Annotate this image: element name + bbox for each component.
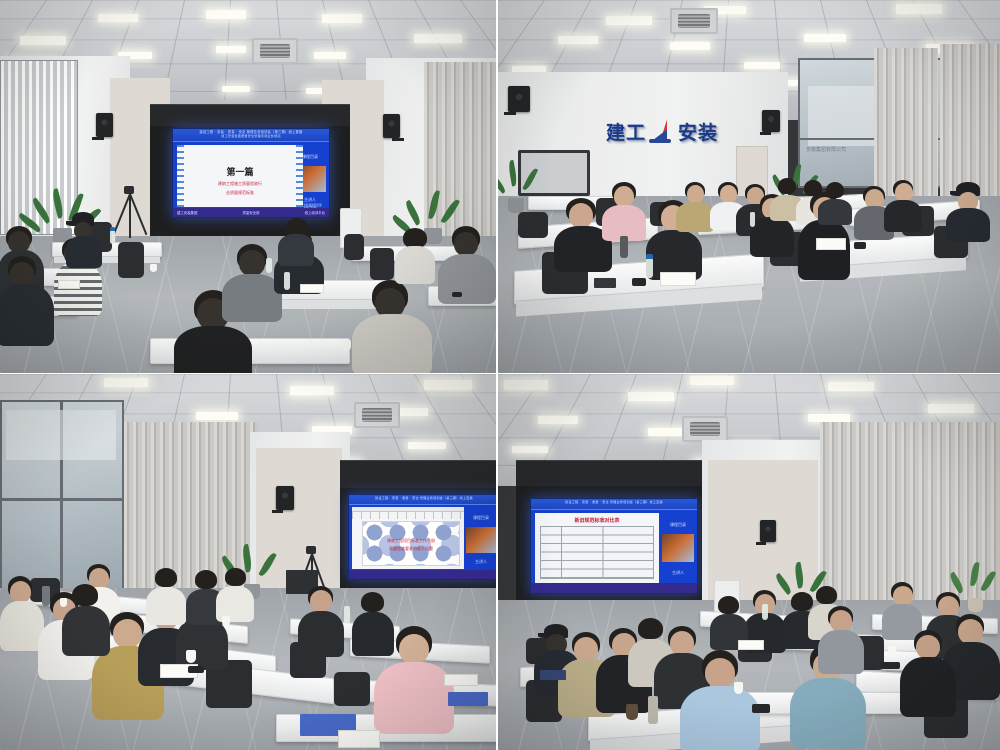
ceiling-light — [104, 378, 148, 387]
speaker-bracket — [756, 542, 766, 545]
ceiling-light — [408, 442, 446, 449]
water-bottle — [646, 258, 653, 278]
sail-logo-icon — [649, 120, 675, 144]
tripod-camera — [120, 186, 138, 242]
document-folder — [594, 278, 616, 288]
slide-sidebar-bottom-label: 主讲人 — [463, 559, 496, 565]
water-bottle — [750, 212, 755, 227]
logo-text-left: 建工 — [606, 118, 646, 145]
led-screen-slide[interactable]: 建设工程 · 安装 · 质量 · 安全 管理业务培训会（第三期）线上直播 建工安… — [172, 128, 330, 218]
wall-speaker-icon — [508, 86, 530, 112]
paper-cup — [186, 650, 196, 663]
ceiling-light — [206, 10, 246, 19]
chair — [370, 248, 394, 280]
ceiling-light — [196, 412, 238, 420]
document-headline-2: 质量验收要求的若干问题 — [363, 546, 459, 552]
ceiling-light — [290, 386, 334, 395]
water-bottle — [762, 604, 768, 620]
ac-vent-icon — [252, 38, 298, 64]
smartphone — [188, 666, 204, 673]
ceiling-light — [504, 380, 548, 390]
ceiling-light — [928, 404, 974, 413]
document-page: 建筑工程项目标准工作手册 质量验收要求的若干问题 — [362, 521, 460, 566]
attendee — [224, 244, 280, 318]
paper-cup — [888, 646, 896, 657]
slide-header-text: 建设工程 · 安装 · 质量 · 安全 管理业务培训会（第三期）线上直播 — [531, 500, 697, 504]
slide-subtitle-2: 业质量规范标准 — [177, 190, 303, 196]
document-folder — [540, 670, 566, 680]
slide-body: 第一篇 建筑工程施工质量验收行 业质量规范标准 — [177, 145, 303, 207]
led-screen-document[interactable]: 建设工程 · 安装 · 质量 · 安全 管理业务培训会（第三期）线上直播 课程目… — [348, 494, 496, 580]
ceiling-light — [414, 34, 462, 43]
ceiling-light — [804, 34, 846, 42]
notebook — [58, 280, 80, 289]
ac-vent-icon — [682, 416, 728, 442]
ceiling-light — [828, 382, 874, 391]
attendee — [884, 180, 922, 230]
slide-header-banner: 建设工程 · 安装 · 质量 · 安全 管理业务培训会（第三期）线上直播 — [531, 499, 697, 510]
thermos — [42, 586, 50, 606]
ceiling-light — [648, 428, 686, 436]
attendee — [818, 182, 852, 224]
slide-header-banner: 建设工程 · 安装 · 质量 · 安全 管理业务培训会（第三期）线上直播 — [349, 495, 496, 505]
printed-sheet — [338, 730, 380, 748]
notebook — [300, 284, 324, 293]
attendee-with-cap — [946, 182, 990, 240]
ceiling-light — [670, 42, 710, 50]
slide-header-text: 建设工程 · 安装 · 质量 · 安全 管理业务培训会（第三期）线上直播 — [349, 496, 496, 500]
attendee — [0, 576, 44, 648]
ceiling-light — [628, 392, 674, 401]
slide-subtitle-1: 建筑工程施工质量验收行 — [177, 181, 303, 187]
table-slide-title: 新旧规范标准对比表 — [535, 517, 659, 524]
ceiling-light — [690, 376, 734, 385]
curtain — [874, 48, 938, 200]
ceiling-light — [512, 446, 548, 453]
ac-vent-icon — [670, 8, 718, 34]
attendee — [676, 182, 714, 230]
attendee-pink — [378, 626, 450, 730]
speaker-bracket — [272, 510, 283, 513]
notebook — [816, 238, 846, 250]
collage-photo-bottom-left[interactable]: 建设工程 · 安装 · 质量 · 安全 管理业务培训会（第三期）线上直播 课程目… — [0, 374, 498, 750]
ceiling-light — [98, 14, 138, 22]
thermos — [620, 236, 628, 258]
led-screen-table[interactable]: 建设工程 · 安装 · 质量 · 安全 管理业务培训会（第三期）线上直播 课程目… — [530, 498, 698, 594]
ceiling-light — [314, 52, 346, 59]
wall-speaker-icon — [96, 113, 113, 137]
attendee — [902, 630, 954, 714]
wall-speaker-icon — [276, 486, 294, 510]
speaker-bracket — [392, 138, 404, 141]
document-window: 建筑工程项目标准工作手册 质量验收要求的若干问题 — [352, 507, 464, 569]
chair — [118, 242, 144, 278]
window-sign-text: 安装集团有限公司 — [806, 146, 846, 153]
attendee — [276, 218, 316, 266]
company-wall-logo: 建工 安装 — [606, 118, 718, 145]
water-bottle — [344, 606, 350, 624]
stage-trim — [516, 460, 706, 486]
smartphone — [880, 662, 900, 669]
speaker-bracket — [92, 137, 104, 140]
attendee — [146, 568, 186, 624]
speaker-bracket — [760, 132, 771, 135]
smartphone — [632, 278, 646, 286]
ceiling-light — [606, 16, 652, 25]
slide-footer — [349, 570, 496, 579]
speaker-bracket — [504, 112, 516, 115]
wall-speaker-icon — [383, 114, 400, 138]
attendee — [684, 650, 756, 750]
smartphone — [752, 704, 770, 713]
slide-sidebar: 课程目录 主讲人 — [659, 510, 697, 583]
slide-sidebar-top-label: 课程目录 — [659, 522, 697, 528]
notebook — [738, 640, 764, 650]
chair — [344, 234, 364, 260]
ceiling-light — [538, 416, 578, 424]
paper-cup — [60, 598, 67, 607]
ceiling-light — [20, 36, 66, 45]
building-outside — [6, 410, 116, 460]
curtain — [940, 44, 1000, 204]
slide-sidebar-bottom-label: 主讲人 — [659, 570, 697, 576]
ceiling-light — [322, 14, 362, 23]
printed-sheet — [444, 674, 478, 686]
attendee — [818, 606, 864, 672]
water-bottle — [266, 258, 272, 273]
attendee — [440, 226, 494, 302]
water-bottle — [110, 230, 115, 244]
slide-sidebar-top-label: 课程目录 — [463, 515, 496, 521]
collage-photo-top-right[interactable]: 安装集团有限公司 建工 安装 — [498, 0, 1000, 374]
logo-text-right: 安装 — [678, 118, 718, 145]
slide-footer-right: 线上培训平台 — [305, 210, 325, 215]
window-left — [0, 400, 124, 590]
slide-header-banner: 建设工程 · 安装 · 质量 · 安全 管理业务培训会（第三期）线上直播 建工安… — [173, 129, 329, 142]
collage-photo-bottom-right[interactable]: 建设工程 · 安装 · 质量 · 安全 管理业务培训会（第三期）线上直播 课程目… — [498, 374, 1000, 750]
attendee-with-cap — [64, 212, 104, 264]
slide-footer — [531, 583, 697, 593]
document-ribbon — [352, 512, 464, 519]
ceiling-light — [424, 380, 472, 390]
ceiling-light — [744, 62, 780, 69]
attendee — [0, 256, 54, 346]
bottle-cap — [646, 254, 653, 259]
bottle-cap — [110, 227, 115, 231]
ac-vent-icon — [354, 402, 400, 428]
water-bottle — [284, 272, 290, 290]
slide-header-text-2: 建工安装集团质量安全管理专项业务培训 — [173, 134, 329, 138]
attendee — [62, 584, 110, 654]
attendee — [394, 228, 436, 282]
paper-cup — [150, 264, 157, 272]
wall-speaker-icon — [762, 110, 780, 132]
comparison-table — [540, 526, 654, 579]
collage-photo-top-left[interactable]: 建设工程 · 安装 · 质量 · 安全 管理业务培训会（第三期）线上直播 建工安… — [0, 0, 498, 374]
notebook — [660, 272, 696, 286]
stage-trim — [340, 460, 496, 488]
ceiling-light — [808, 414, 850, 422]
ceiling-light — [558, 36, 598, 44]
attendee — [298, 586, 344, 654]
thermos — [648, 696, 658, 724]
slide-sidebar: 课程目录 主讲人 — [463, 505, 496, 570]
table-grid — [541, 527, 653, 578]
attendee — [216, 568, 254, 620]
stage-trim — [150, 104, 350, 126]
ceiling-light — [222, 86, 250, 92]
paper-cup — [626, 704, 638, 720]
slide-video-thumb — [662, 534, 694, 562]
paper-cup — [734, 682, 743, 694]
smartphone — [452, 292, 462, 297]
attendee — [356, 280, 428, 373]
wall-speaker-icon — [760, 520, 776, 542]
slide-body: 新旧规范标准对比表 — [535, 513, 659, 583]
chair — [334, 672, 370, 706]
ceiling-light — [896, 4, 942, 14]
slide-title: 第一篇 — [177, 165, 303, 178]
slide-footer: 建工安装集团 质量安全部 线上培训平台 — [173, 208, 329, 217]
ceiling-light — [216, 46, 246, 53]
chair — [518, 212, 548, 238]
paper-cup — [342, 340, 351, 351]
slide-video-thumb — [466, 527, 496, 553]
photo-collage: 建设工程 · 安装 · 质量 · 安全 管理业务培训会（第三期）线上直播 建工安… — [0, 0, 1000, 750]
attendee — [602, 182, 646, 240]
paper-cup — [222, 616, 230, 626]
document-headline-1: 建筑工程项目标准工作手册 — [363, 538, 459, 544]
smartphone — [854, 242, 866, 249]
document-folder — [448, 692, 488, 706]
